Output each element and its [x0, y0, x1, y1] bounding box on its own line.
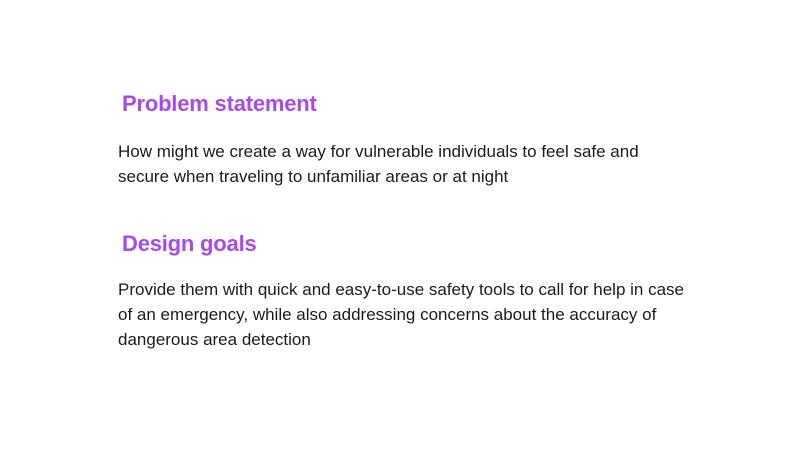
slide-content: Problem statement How might we create a …	[118, 90, 718, 352]
design-goals-body: Provide them with quick and easy-to-use …	[118, 277, 690, 352]
problem-statement-body: How might we create a way for vulnerable…	[118, 139, 690, 189]
section-problem-statement: Problem statement How might we create a …	[118, 90, 718, 189]
slide-canvas: Problem statement How might we create a …	[0, 0, 806, 453]
heading-body-spacer	[118, 117, 718, 139]
section-design-goals: Design goals Provide them with quick and…	[118, 230, 718, 352]
problem-statement-heading: Problem statement	[122, 90, 718, 117]
design-goals-heading: Design goals	[122, 230, 718, 257]
heading-body-spacer	[118, 257, 718, 277]
